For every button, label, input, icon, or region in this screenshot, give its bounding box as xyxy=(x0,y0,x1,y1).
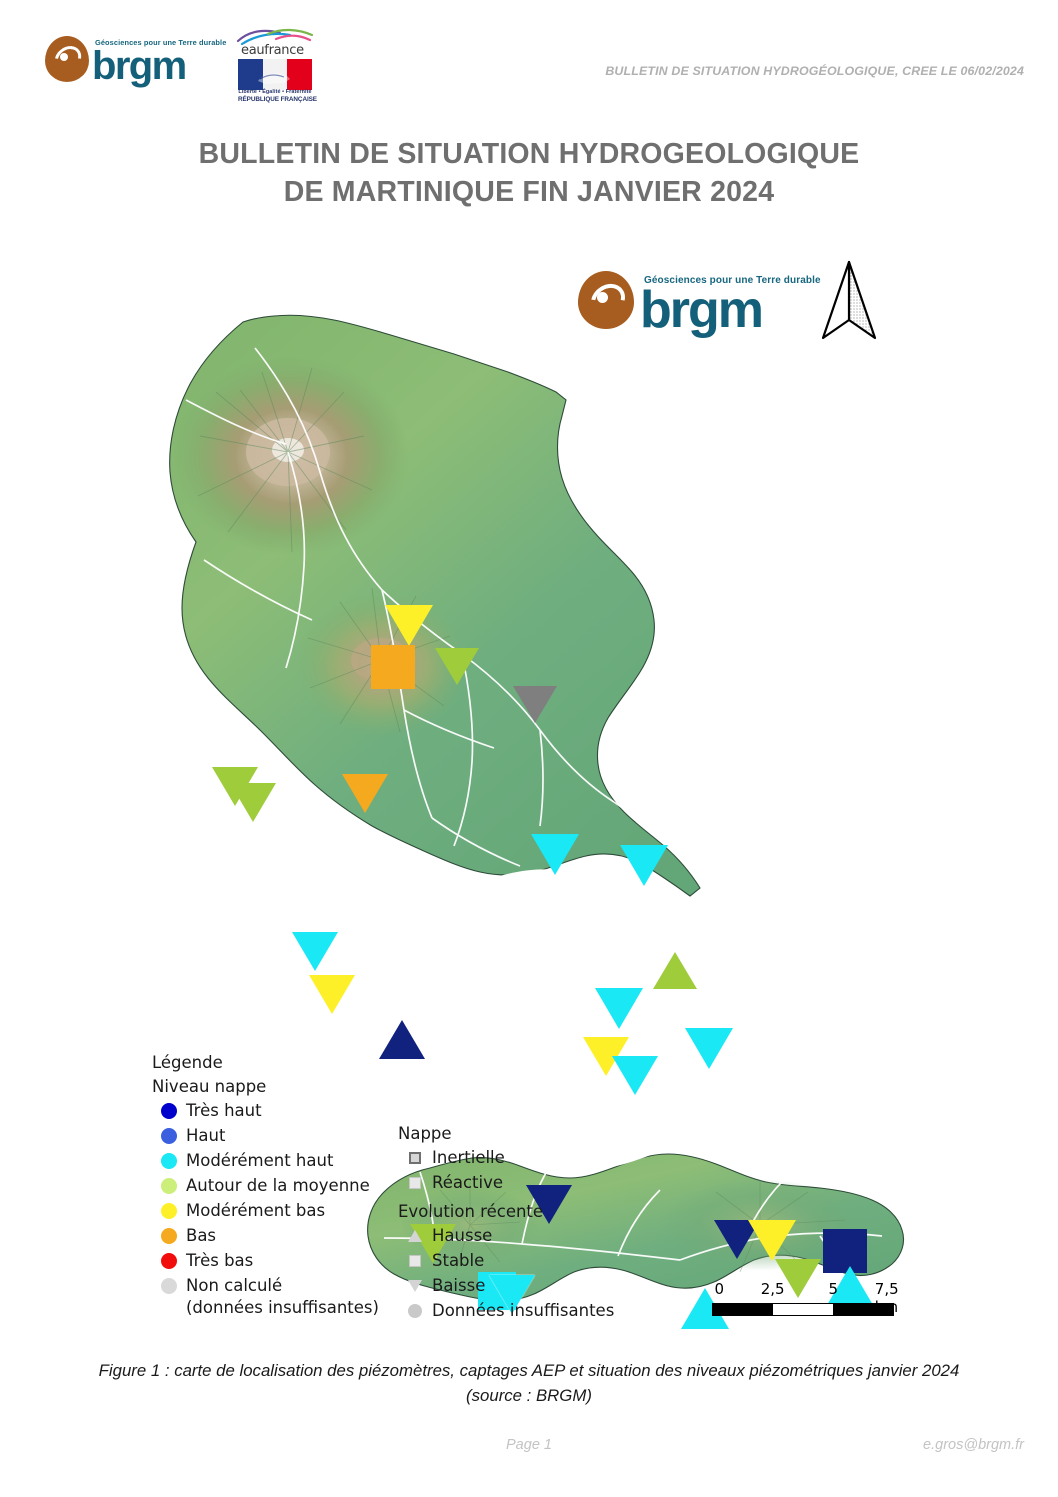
scale-tick-label: 5 xyxy=(829,1280,839,1298)
legend-group-nappe-title: Nappe xyxy=(398,1124,614,1143)
scale-segment xyxy=(833,1304,893,1315)
brgm-wordmark: brgm xyxy=(92,46,186,86)
legend-secondary: Nappe InertielleRéactive Evolution récen… xyxy=(398,1124,614,1323)
brgm-mark-icon xyxy=(45,36,89,82)
marianne-icon xyxy=(256,67,294,87)
legend-color-dot-icon xyxy=(161,1228,177,1244)
legend-item-nappe-0: Inertielle xyxy=(398,1145,614,1170)
legend-swatch-cell xyxy=(152,1103,186,1119)
legend-swatch-cell xyxy=(398,1280,432,1292)
legend-swatch-cell xyxy=(152,1178,186,1194)
marker-03[interactable] xyxy=(435,648,479,685)
legend-color-dot-icon xyxy=(161,1278,177,1294)
legend-swatch-cell xyxy=(152,1153,186,1169)
marker-15[interactable] xyxy=(685,1028,733,1069)
legend-item-label: Inertielle xyxy=(432,1148,505,1167)
eaufrance-wordmark: eaufrance xyxy=(241,43,304,58)
legend-evolution-items: HausseStableBaisseDonnées insuffisantes xyxy=(398,1223,614,1323)
legend-swatch-cell xyxy=(152,1203,186,1219)
figure-caption-line1: Figure 1 : carte de localisation des pié… xyxy=(99,1361,864,1380)
legend-group-niveau-nappe-title: Niveau nappe xyxy=(152,1077,632,1096)
marker-10[interactable] xyxy=(292,932,338,971)
page-header: Géosciences pour une Terre durable brgm … xyxy=(0,0,1058,118)
legend-swatch-cell xyxy=(398,1152,432,1164)
legend-item-label: Modérément bas xyxy=(186,1201,325,1220)
eaufrance-devise: Liberté • Égalité • Fraternité xyxy=(238,89,312,95)
page-title-line2: DE MARTINIQUE FIN JANVIER 2024 xyxy=(0,174,1058,212)
legend-item-label: Très bas xyxy=(186,1251,253,1270)
page-title-line1: BULLETIN DE SITUATION HYDROGEOLOGIQUE xyxy=(0,136,1058,174)
scale-segment xyxy=(773,1304,833,1315)
legend-item-label: Stable xyxy=(432,1251,484,1270)
legend-item-label: Réactive xyxy=(432,1173,503,1192)
marker-08[interactable] xyxy=(531,834,579,875)
legend-color-dot-icon xyxy=(161,1153,177,1169)
footer-page-number: Page 1 xyxy=(0,1437,1058,1453)
legend-swatch-cell xyxy=(152,1128,186,1144)
marker-14[interactable] xyxy=(595,988,643,1029)
legend-item-evolution-2: Baisse xyxy=(398,1273,614,1298)
legend-item-label: Modérément haut xyxy=(186,1151,333,1170)
scale-bar: 02,557,5 km xyxy=(712,1280,894,1316)
figure-caption: Figure 1 : carte de localisation des pié… xyxy=(79,1358,979,1408)
brgm-logo: Géosciences pour une Terre durable brgm xyxy=(45,30,220,92)
page-title: BULLETIN DE SITUATION HYDROGEOLOGIQUE DE… xyxy=(0,136,1058,212)
scale-tick-label: 0 xyxy=(714,1280,724,1298)
legend-item-evolution-0: Hausse xyxy=(398,1223,614,1248)
legend-swatch-cell xyxy=(398,1255,432,1267)
legend-swatch-cell xyxy=(398,1230,432,1242)
marker-21[interactable] xyxy=(748,1220,796,1261)
marker-09[interactable] xyxy=(620,845,668,886)
marker-04[interactable] xyxy=(513,686,557,723)
page-footer: Page 1 e.gros@brgm.fr xyxy=(0,1437,1058,1477)
legend-nappe-items: InertielleRéactive xyxy=(398,1145,614,1195)
legend-item-label: Bas xyxy=(186,1226,216,1245)
legend-swatch-cell xyxy=(152,1278,186,1294)
legend-swatch-cell xyxy=(152,1228,186,1244)
legend-item-label: Baisse xyxy=(432,1276,485,1295)
legend-swatch-cell xyxy=(398,1177,432,1189)
scale-segment xyxy=(713,1304,773,1315)
legend-item-label: Haut xyxy=(186,1126,225,1145)
scale-bar-labels: 02,557,5 km xyxy=(712,1280,894,1300)
french-flag-icon xyxy=(238,59,312,90)
footer-contact-email[interactable]: e.gros@brgm.fr xyxy=(923,1437,1024,1453)
circle-icon xyxy=(408,1304,422,1318)
scale-bar-segments xyxy=(712,1303,894,1316)
eaufrance-logo: eaufrance Liberté • Égalité • Fraternité… xyxy=(228,28,324,106)
legend-color-dot-icon xyxy=(161,1203,177,1219)
legend-swatch-cell xyxy=(152,1253,186,1269)
legend-item-evolution-1: Stable xyxy=(398,1248,614,1273)
triangle-up-icon xyxy=(408,1230,422,1242)
legend-item-label: Données insuffisantes xyxy=(432,1301,614,1320)
legend-item-label: Très haut xyxy=(186,1101,262,1120)
legend-item-label: Hausse xyxy=(432,1226,492,1245)
marker-02[interactable] xyxy=(371,645,415,689)
marker-06[interactable] xyxy=(230,783,276,822)
legend-item-niveau-0: Très haut xyxy=(152,1098,632,1123)
marker-11[interactable] xyxy=(309,975,355,1014)
header-bulletin-label: BULLETIN DE SITUATION HYDROGÉOLOGIQUE, C… xyxy=(605,64,1024,78)
legend-color-dot-icon xyxy=(161,1103,177,1119)
legend-group-evolution-title: Evolution récente xyxy=(398,1202,614,1221)
eaufrance-republic: RÉPUBLIQUE FRANÇAISE xyxy=(238,96,312,103)
legend-item-label: Non calculé xyxy=(186,1276,282,1295)
legend-color-dot-icon xyxy=(161,1128,177,1144)
legend-color-dot-icon xyxy=(161,1253,177,1269)
legend-swatch-cell xyxy=(398,1304,432,1318)
legend-title: Légende xyxy=(152,1053,632,1072)
marker-07[interactable] xyxy=(342,774,388,813)
triangle-down-icon xyxy=(408,1280,422,1292)
legend-item-nappe-1: Réactive xyxy=(398,1170,614,1195)
square-light-icon xyxy=(409,1177,421,1189)
marker-01[interactable] xyxy=(385,605,433,646)
legend-item-evolution-3: Données insuffisantes xyxy=(398,1298,614,1323)
marker-13[interactable] xyxy=(653,952,697,989)
square-outlined-icon xyxy=(409,1152,421,1164)
square-icon xyxy=(409,1255,421,1267)
legend-color-dot-icon xyxy=(161,1178,177,1194)
scale-tick-label: 2,5 xyxy=(761,1280,785,1298)
legend-item-label: Autour de la moyenne xyxy=(186,1176,370,1195)
